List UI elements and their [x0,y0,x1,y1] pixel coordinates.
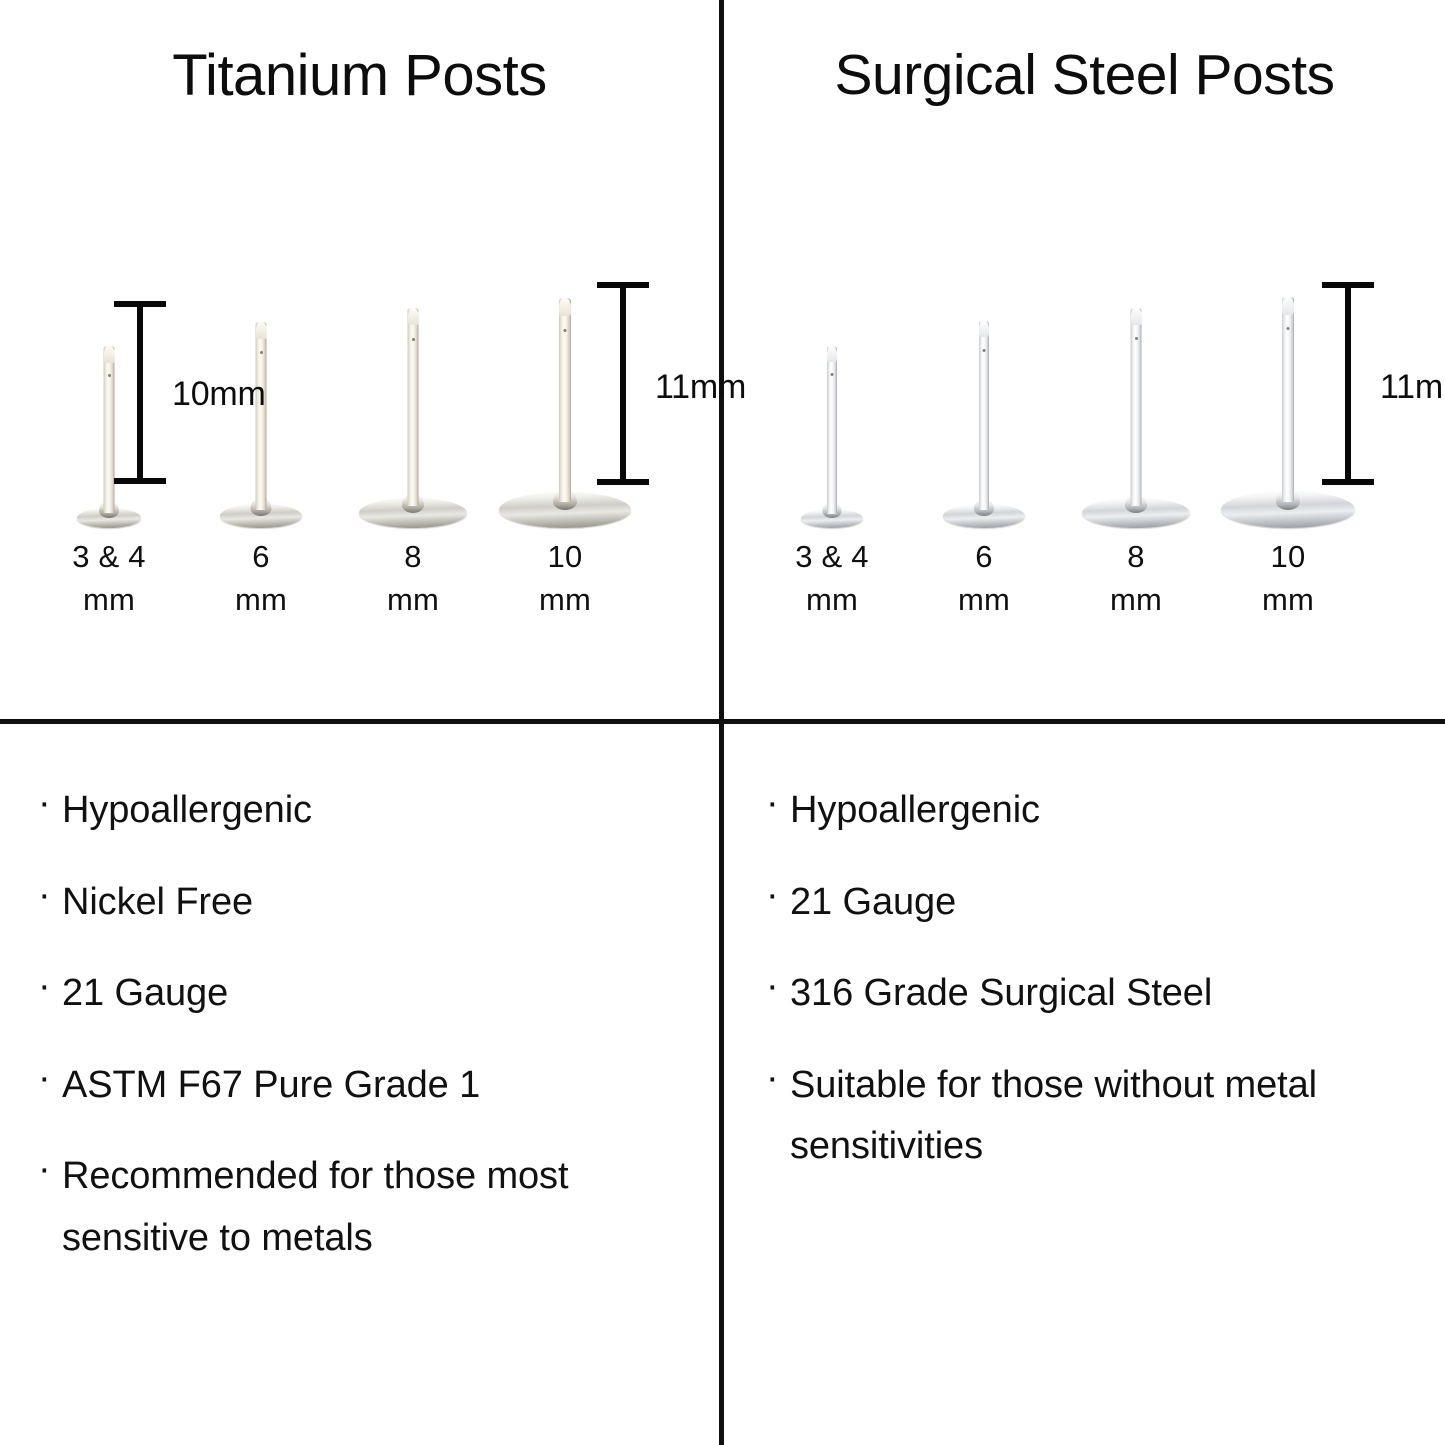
titanium-size-labels: 3 & 4 mm 6 mm 8 mm 10 mm [0,536,719,646]
post-tip [979,321,989,337]
size-value: 3 & 4 [795,539,868,574]
post-tip [1282,297,1294,315]
post-titanium-10mm [485,268,645,528]
size-value: 10 [548,539,583,574]
post-shaft [1131,308,1142,506]
list-item: · Nickel Free [38,872,685,934]
post-shaft [104,346,115,513]
post-notch [260,351,263,354]
size-value: 8 [1127,539,1144,574]
surgical-steel-feature-list: · Hypoallergenic · 21 Gauge · 316 Grade … [766,780,1411,1208]
list-item: · Hypoallergenic [38,780,685,842]
size-label-6mm: 6 mm [904,536,1064,622]
list-item: · 21 Gauge [38,963,685,1025]
post-steel-3-4mm [752,268,912,528]
post-notch [412,338,415,341]
size-unit: mm [752,579,912,622]
titanium-panel-title: Titanium Posts [0,44,719,108]
size-value: 6 [975,539,992,574]
list-item-label: 316 Grade Surgical Steel [790,963,1212,1025]
dimension-label-11mm: 11mm [1380,368,1445,407]
size-label-10mm: 10 mm [485,536,645,622]
size-unit: mm [485,579,645,622]
bullet-dot-icon: · [38,1146,62,1192]
post-tip [559,298,571,316]
size-value: 3 & 4 [72,539,145,574]
titanium-post-row: 10mm 11mm [0,268,719,528]
size-unit: mm [1056,579,1216,622]
post-notch [108,374,111,377]
surgical-steel-panel-title: Surgical Steel Posts [724,44,1445,107]
list-item: · Suitable for those without metal sensi… [766,1055,1411,1178]
post-notch [1287,327,1290,330]
size-unit: mm [1208,579,1368,622]
post-titanium-8mm [333,268,493,528]
post-notch [1135,337,1138,340]
bullet-dot-icon: · [38,963,62,1009]
size-unit: mm [181,579,341,622]
size-unit: mm [333,579,493,622]
bullet-dot-icon: · [766,963,790,1009]
list-item-label: Hypoallergenic [62,780,312,842]
post-notch [831,373,834,376]
bullet-dot-icon: · [766,780,790,826]
size-label-8mm: 8 mm [1056,536,1216,622]
list-item: · Hypoallergenic [766,780,1411,842]
bullet-dot-icon: · [38,872,62,918]
list-item-label: Recommended for those most sensitive to … [62,1146,647,1269]
bullet-dot-icon: · [766,1055,790,1101]
size-unit: mm [29,579,189,622]
list-item-label: 21 Gauge [790,872,956,934]
post-shaft [256,322,267,510]
bullet-dot-icon: · [38,780,62,826]
post-tip [104,346,115,363]
list-item: · 21 Gauge [766,872,1411,934]
post-steel-6mm [904,268,1064,528]
post-notch [564,329,567,332]
list-item-label: Nickel Free [62,872,253,934]
surgical-steel-posts-panel: Surgical Steel Posts [724,0,1445,719]
infographic-root: Titanium Posts [0,0,1445,1445]
list-item: · Recommended for those most sensitive t… [38,1146,685,1269]
size-value: 10 [1271,539,1306,574]
list-item-label: Hypoallergenic [790,780,1040,842]
size-label-8mm: 8 mm [333,536,493,622]
list-item: · ASTM F67 Pure Grade 1 [38,1055,685,1117]
dimension-label-10mm: 10mm [172,375,266,414]
titanium-feature-list: · Hypoallergenic · Nickel Free · 21 Gaug… [38,780,685,1299]
bullet-dot-icon: · [766,872,790,918]
size-value: 6 [252,539,269,574]
post-shaft [408,308,419,506]
list-item: · 316 Grade Surgical Steel [766,963,1411,1025]
titanium-posts-panel: Titanium Posts [0,0,719,719]
post-tip [256,322,267,339]
titanium-features-panel: · Hypoallergenic · Nickel Free · 21 Gaug… [0,724,719,1445]
post-shaft [979,321,989,510]
surgical-steel-post-row: 11mm [724,268,1445,528]
size-unit: mm [904,579,1064,622]
post-tip [408,308,419,325]
size-label-3-4mm: 3 & 4 mm [752,536,912,622]
size-value: 8 [404,539,421,574]
post-shaft [559,298,571,502]
post-shaft [827,346,837,514]
post-shaft [1282,297,1294,502]
bullet-dot-icon: · [38,1055,62,1101]
post-tip [1131,308,1142,325]
list-item-label: ASTM F67 Pure Grade 1 [62,1055,480,1117]
post-tip [827,346,837,362]
size-label-3-4mm: 3 & 4 mm [29,536,189,622]
size-label-10mm: 10 mm [1208,536,1368,622]
surgical-steel-features-panel: · Hypoallergenic · 21 Gauge · 316 Grade … [724,724,1445,1445]
surgical-steel-size-labels: 3 & 4 mm 6 mm 8 mm 10 mm [724,536,1445,646]
post-notch [983,349,986,352]
post-steel-8mm [1056,268,1216,528]
list-item-label: 21 Gauge [62,963,228,1025]
post-steel-10mm [1208,268,1368,528]
post-titanium-3-4mm [29,268,189,528]
size-label-6mm: 6 mm [181,536,341,622]
list-item-label: Suitable for those without metal sensiti… [790,1055,1390,1178]
